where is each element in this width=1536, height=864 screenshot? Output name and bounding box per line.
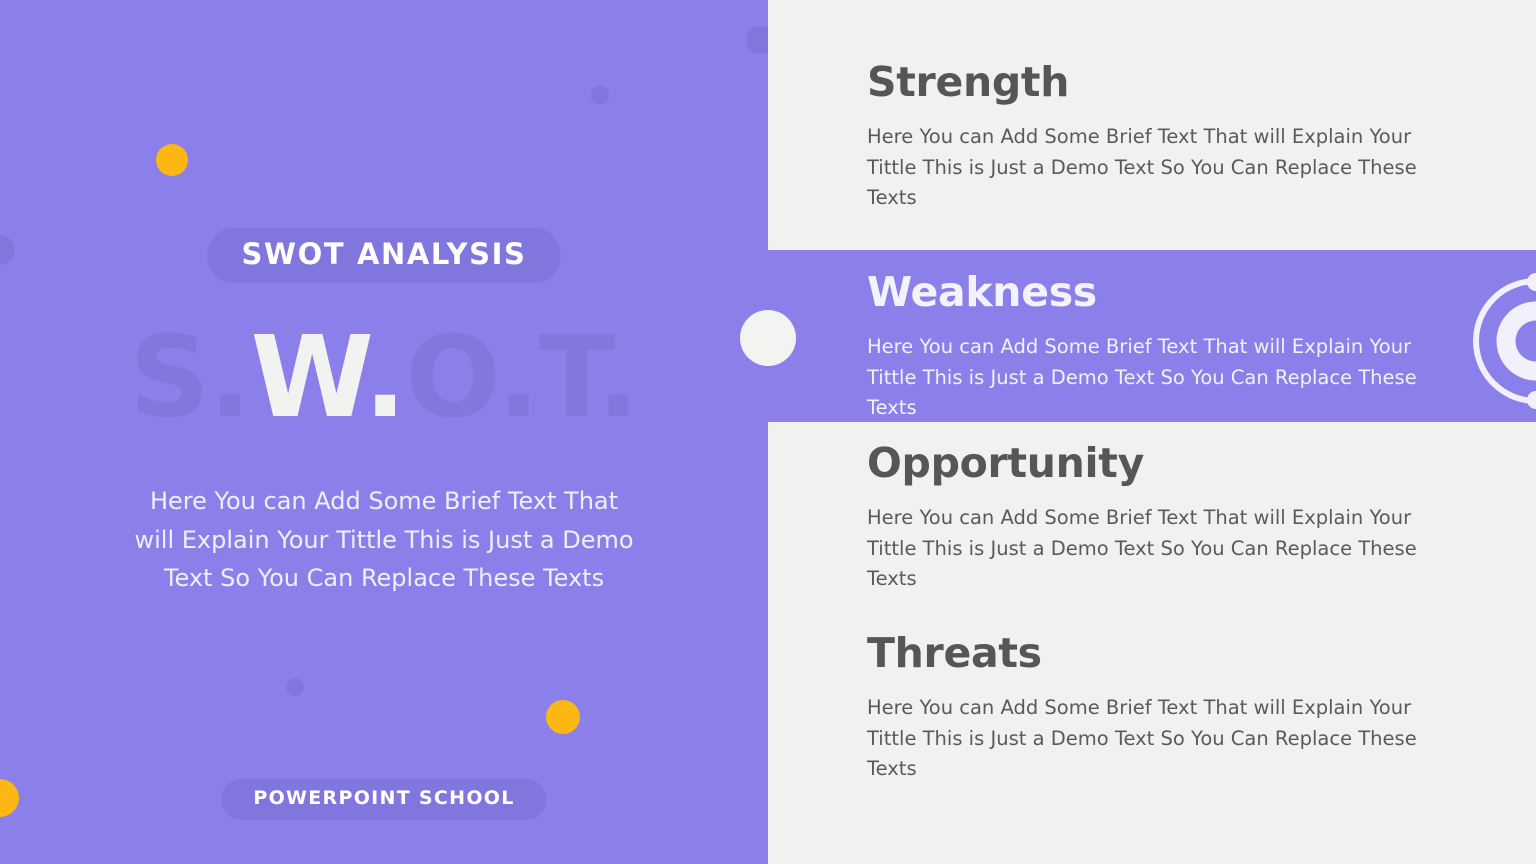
dot-purple-upper-icon — [591, 86, 609, 104]
section-title-strength: Strength — [867, 62, 1506, 103]
dot-yellow-top-left-icon — [156, 144, 188, 176]
acronym-letter-w: W. — [251, 313, 406, 443]
section-body-strength: Here You can Add Some Brief Text That wi… — [867, 122, 1427, 214]
section-body-opportunity: Here You can Add Some Brief Text That wi… — [867, 503, 1427, 595]
dot-purple-lower-icon — [286, 678, 304, 696]
swot-analysis-badge-label: SWOT ANALYSIS — [242, 240, 527, 269]
swot-section-opportunity[interactable]: Opportunity Here You can Add Some Brief … — [768, 443, 1536, 595]
swot-section-strength[interactable]: Strength Here You can Add Some Brief Tex… — [768, 62, 1536, 214]
swot-acronym: S.W.O.T. — [0, 322, 768, 434]
dot-purple-left-edge-icon — [0, 235, 15, 265]
swot-section-weakness[interactable]: Weakness Here You can Add Some Brief Tex… — [768, 250, 1536, 422]
swot-analysis-slide: SWOT ANALYSIS S.W.O.T. Here You can Add … — [0, 0, 1536, 864]
swot-sections-panel: Strength Here You can Add Some Brief Tex… — [768, 0, 1536, 864]
section-title-threats: Threats — [867, 633, 1506, 674]
section-body-threats: Here You can Add Some Brief Text That wi… — [867, 693, 1427, 785]
acronym-letter-s: S. — [129, 313, 250, 443]
powerpoint-school-badge: POWERPOINT SCHOOL — [221, 779, 546, 820]
section-title-weakness: Weakness — [867, 272, 1506, 313]
section-body-weakness: Here You can Add Some Brief Text That wi… — [867, 332, 1427, 424]
powerpoint-school-badge-label: POWERPOINT SCHOOL — [253, 789, 514, 808]
acronym-letter-o: O. — [405, 313, 538, 443]
intro-description: Here You can Add Some Brief Text That wi… — [128, 482, 640, 598]
swot-section-threats[interactable]: Threats Here You can Add Some Brief Text… — [768, 633, 1536, 785]
dot-yellow-bottom-icon — [546, 700, 580, 734]
left-intro-panel: SWOT ANALYSIS S.W.O.T. Here You can Add … — [0, 0, 768, 864]
dot-yellow-corner-icon — [0, 779, 19, 817]
connector-notch-icon — [740, 310, 796, 366]
dot-purple-top-right-icon — [746, 26, 768, 54]
swot-analysis-badge: SWOT ANALYSIS — [208, 228, 561, 283]
acronym-letter-t: T. — [539, 313, 639, 443]
section-title-opportunity: Opportunity — [867, 443, 1506, 484]
